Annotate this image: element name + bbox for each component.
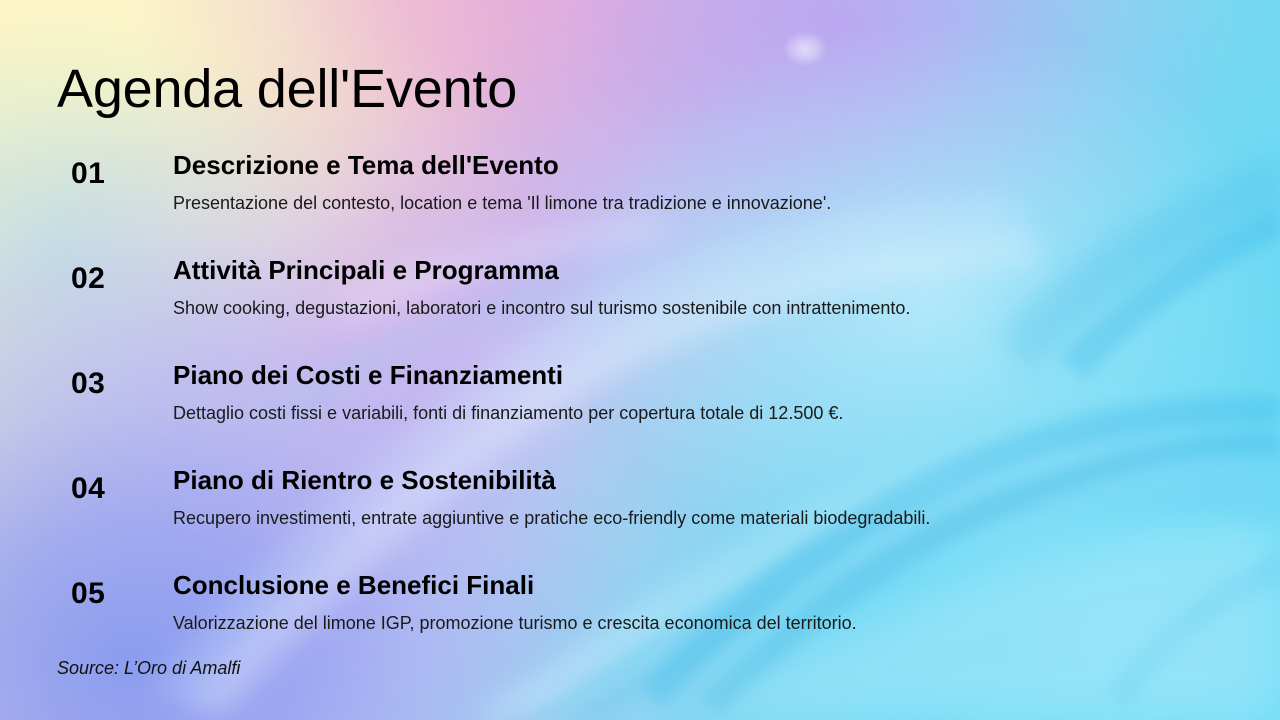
agenda-item-description: Dettaglio costi fissi e variabili, fonti…: [173, 402, 1260, 425]
agenda-list: 01 Descrizione e Tema dell'Evento Presen…: [0, 150, 1280, 675]
agenda-item-number: 02: [71, 262, 161, 296]
agenda-item-description: Recupero investimenti, entrate aggiuntiv…: [173, 507, 1260, 530]
agenda-item-heading: Attività Principali e Programma: [173, 255, 1260, 286]
agenda-item-number: 03: [71, 367, 161, 401]
agenda-item-description: Valorizzazione del limone IGP, promozion…: [173, 612, 1260, 635]
agenda-item-body: Piano dei Costi e Finanziamenti Dettagli…: [173, 360, 1260, 424]
agenda-item-description: Presentazione del contesto, location e t…: [173, 192, 1260, 215]
agenda-item-number: 05: [71, 577, 161, 611]
page-title: Agenda dell'Evento: [57, 61, 517, 118]
agenda-item-heading: Piano di Rientro e Sostenibilità: [173, 465, 1260, 496]
agenda-item-02: 02 Attività Principali e Programma Show …: [0, 255, 1280, 360]
agenda-item-heading: Descrizione e Tema dell'Evento: [173, 150, 1260, 181]
agenda-item-number: 04: [71, 472, 161, 506]
agenda-item-heading: Conclusione e Benefici Finali: [173, 570, 1260, 601]
agenda-item-body: Piano di Rientro e Sostenibilità Recuper…: [173, 465, 1260, 529]
agenda-item-body: Descrizione e Tema dell'Evento Presentaz…: [173, 150, 1260, 214]
agenda-item-heading: Piano dei Costi e Finanziamenti: [173, 360, 1260, 391]
agenda-item-04: 04 Piano di Rientro e Sostenibilità Recu…: [0, 465, 1280, 570]
source-attribution: Source: L’Oro di Amalfi: [57, 658, 240, 679]
agenda-item-body: Conclusione e Benefici Finali Valorizzaz…: [173, 570, 1260, 634]
agenda-item-number: 01: [71, 157, 161, 191]
agenda-item-01: 01 Descrizione e Tema dell'Evento Presen…: [0, 150, 1280, 255]
agenda-item-description: Show cooking, degustazioni, laboratori e…: [173, 297, 1260, 320]
presentation-slide: Agenda dell'Evento 01 Descrizione e Tema…: [0, 0, 1280, 720]
agenda-item-03: 03 Piano dei Costi e Finanziamenti Detta…: [0, 360, 1280, 465]
agenda-item-body: Attività Principali e Programma Show coo…: [173, 255, 1260, 319]
